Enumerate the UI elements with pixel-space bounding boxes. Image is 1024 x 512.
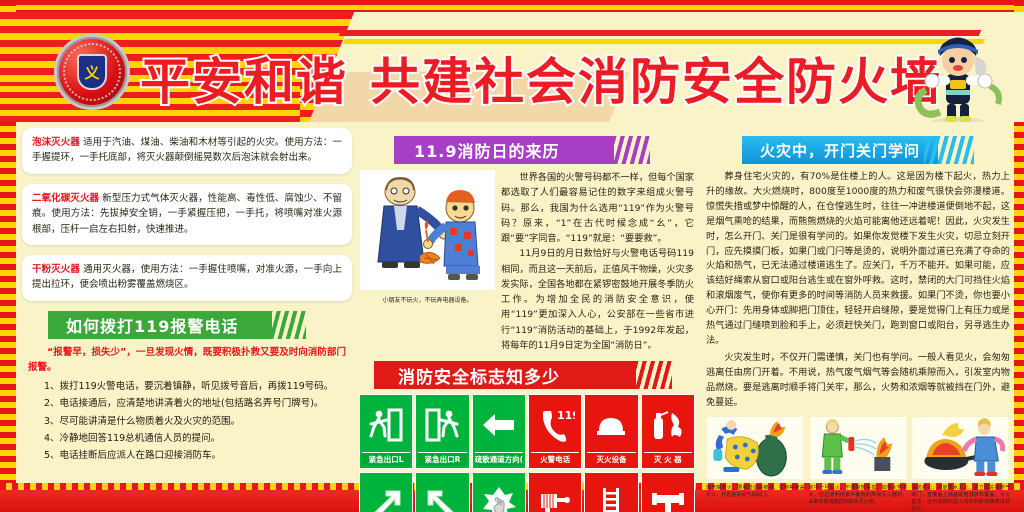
title-main: 平安和谐: [140, 53, 348, 111]
illustration-caption: 家中一旦起火，不要惊慌失措，如果火势不大，应迅速利用家中备有的简易灭火器材，采取…: [809, 485, 908, 507]
fire-equipment-icon: [587, 397, 635, 452]
sign-fire-extinguisher[interactable]: 灭 火 器: [642, 395, 694, 468]
door-knowledge-text: 葬身住宅火灾的，有70%是住楼上的人。这是因为楼下起火，热力上升的缘故。大火燃烧…: [706, 170, 1010, 411]
ribbon-tail: [256, 311, 306, 339]
sign-fire-ladder[interactable]: 消 防 梯: [585, 473, 637, 512]
exit-left-icon: [362, 397, 410, 452]
fire-safety-poster: 义 平安和谐共建社会消防安全防火墙: [0, 0, 1024, 512]
section-header-label: 11.9消防日的来历: [360, 138, 559, 162]
fire-department-emblem: 义: [54, 34, 130, 110]
alarm-intro-text: “报警早，损失少”，一旦发现火情，既要积极扑救又要及时向消防部门报警。: [22, 345, 352, 375]
sign-fire-alarm-phone[interactable]: 119 火警电话: [529, 395, 581, 468]
sign-label: 火警电话: [531, 452, 579, 466]
extinguisher-card-foam: 泡沫灭火器 适用于汽油、煤油、柴油和木材等引起的火灾。使用方法：一手握提环，一手…: [22, 128, 352, 174]
section-header-door-knowledge: 火灾中，开门关门学问: [706, 136, 1010, 164]
title-sub: 共建社会消防安全防火墙: [370, 53, 942, 111]
list-item: 4、冷静地回答119总机通信人员的提问。: [44, 430, 352, 447]
illustration-cell: 家中一旦起火，不要惊慌失措，如果火势不大，应迅速利用家中备有的简易灭火器材，采取…: [809, 417, 908, 512]
card-keyword: 二氧化碳灭火器: [32, 193, 99, 204]
exit-right-icon: [418, 397, 466, 452]
no-playing-with-fire-illustration: 小朋友不玩火，不玩弄电器设备。: [360, 170, 495, 353]
extinguisher-card-co2: 二氧化碳灭火器 新型压力式气体灭火器，性能高、毒性低、腐蚀少、不留痕。使用方法：…: [22, 184, 352, 245]
ribbon-tail: [924, 136, 974, 164]
sign-label: 紧急出口R: [418, 452, 466, 466]
sign-fire-fighting-equipment[interactable]: 灭火设备: [585, 395, 637, 468]
header-red-slash: [339, 30, 982, 36]
section-header-call-119: 如何拨打119报警电话: [22, 311, 352, 339]
arrow-left-icon: [475, 397, 523, 452]
list-item: 5、电话挂断后应派人在路口迎接消防车。: [44, 447, 352, 464]
old-man-and-child-icon: [360, 170, 495, 290]
sign-fire-hose[interactable]: 消防水带: [529, 473, 581, 512]
break-glass-icon: [475, 475, 523, 512]
fire-hose-icon: [531, 475, 579, 512]
section-header-safety-signs: 消防安全标志知多少: [360, 361, 694, 389]
fire-day-content: 小朋友不玩火，不玩弄电器设备。 世界各国的火警号码都不一样，但每个国家都选取了人…: [360, 170, 694, 353]
illustration-caption: 煤气罐着火，要用浸湿的被褥、衣物等掩盖灭火，并迅速关闭气源阀门。: [706, 485, 805, 500]
svg-text:119: 119: [557, 409, 575, 422]
cartoon-caption: 小朋友不玩火，不玩弄电器设备。: [360, 295, 495, 304]
paragraph: 11月9日的月日数恰好与火警电话号码119相同，而且这一天前后，正值风干物燥，火…: [501, 246, 694, 353]
pump-connector-icon: [644, 475, 692, 512]
list-item: 1、拨打119火警电话，要沉着镇静，听见拨号音后，再拨119号码。: [44, 378, 352, 395]
illustration-cell: 煤气罐着火，要用浸湿的被褥、衣物等掩盖灭火，并迅速关闭气源阀门。: [706, 417, 805, 512]
sign-evacuation-direction-left[interactable]: 疏散通道方向(左): [473, 395, 525, 468]
fire-extinguisher-icon: [644, 397, 692, 452]
middle-column: 11.9消防日的来历: [360, 128, 694, 512]
card-text: 二氧化碳灭火器 新型压力式气体灭火器，性能高、毒性低、腐蚀少、不留痕。使用方法：…: [32, 191, 342, 237]
sign-pump-connector[interactable]: 消防水泵接合器: [642, 473, 694, 512]
section-header-fire-day-origin: 11.9消防日的来历: [360, 136, 694, 164]
section-header-label: 消防安全标志知多少: [360, 363, 560, 388]
extinguisher-use-illustration-icon: [809, 417, 908, 479]
fire-ladder-icon: [587, 475, 635, 512]
poster-header: 义 平安和谐共建社会消防安全防火墙: [0, 12, 1024, 122]
sign-label: 疏散通道方向(左): [475, 452, 523, 466]
card-keyword: 泡沫灭火器: [32, 137, 80, 148]
fire-day-text: 世界各国的火警号码都不一样，但每个国家都选取了人们最容易记住的数字来组成火警号码…: [501, 170, 694, 353]
sign-emergency-exit-right[interactable]: 紧急出口R: [416, 395, 468, 468]
ribbon-tail: [622, 361, 672, 389]
illustration-cell: 油锅着火，不能泼水灭火。应立即关掉燃气阀门，直接盖上锅盖或用湿抹布覆盖，令火窒息…: [911, 417, 1010, 512]
ribbon-tail: [600, 136, 650, 164]
list-item: 3、尽可能讲清是什么物质着火及火灾的范围。: [44, 413, 352, 430]
card-text: 干粉灭火器 通用灭火器，使用方法：一手握住喷嘴，对准火源，一手向上提出拉环，便会…: [32, 262, 342, 293]
sign-push-to-open[interactable]: 推 开: [360, 473, 412, 512]
illustration-caption: 油锅着火，不能泼水灭火。应立即关掉燃气阀门，直接盖上锅盖或用湿抹布覆盖，令火窒息…: [911, 485, 1010, 512]
extinguisher-card-drypowder: 干粉灭火器 通用灭火器，使用方法：一手握住喷嘴，对准火源，一手向上提出拉环，便会…: [22, 255, 352, 301]
sign-pull-to-open[interactable]: 拉 开: [416, 473, 468, 512]
fire-phone-119-icon: 119: [531, 397, 579, 452]
sign-label: 灭火设备: [587, 452, 635, 466]
page-title: 平安和谐共建社会消防安全防火墙: [140, 42, 900, 114]
sign-break-glass[interactable]: 击碎板面: [473, 473, 525, 512]
illustrations-row: 煤气罐着火，要用浸湿的被褥、衣物等掩盖灭火，并迅速关闭气源阀门。: [706, 417, 1010, 512]
push-arrow-icon: [362, 475, 410, 512]
firefighter-mascot-icon: [906, 26, 1010, 122]
section-header-label: 火灾中，开门关门学问: [706, 140, 920, 161]
wreath-ring-icon: [63, 43, 121, 101]
paragraph: 火灾发生时，不仅开门需谨慎，关门也有学问。一般人看见火，会匆匆逃离任由房门开着。…: [706, 351, 1010, 411]
alarm-steps-list: 1、拨打119火警电话，要沉着镇静，听见拨号音后，再拨119号码。 2、电话接通…: [22, 378, 352, 464]
gas-cylinder-fire-illustration-icon: [706, 417, 805, 479]
left-column: 泡沫灭火器 适用于汽油、煤油、柴油和木材等引起的火灾。使用方法：一手握提环，一手…: [22, 128, 352, 464]
right-column: 火灾中，开门关门学问 葬身住宅火灾的，有70%是住楼上的人。这是因为楼下起火，热…: [706, 128, 1010, 512]
sign-emergency-exit-left[interactable]: 紧急出口L: [360, 395, 412, 468]
oil-pan-fire-illustration-icon: [911, 417, 1010, 479]
sign-label: 紧急出口L: [362, 452, 410, 466]
card-text: 泡沫灭火器 适用于汽油、煤油、柴油和木材等引起的火灾。使用方法：一手握提环，一手…: [32, 135, 342, 166]
list-item: 2、电话接通后，应清楚地讲清着火的地址(包括路名弄号门牌号)。: [44, 395, 352, 412]
paragraph: 葬身住宅火灾的，有70%是住楼上的人。这是因为楼下起火，热力上升的缘故。大火燃烧…: [706, 170, 1010, 349]
paragraph: 世界各国的火警号码都不一样，但每个国家都选取了人们最容易记住的数字来组成火警号码…: [501, 170, 694, 246]
section-header-label: 如何拨打119报警电话: [22, 313, 238, 337]
card-keyword: 干粉灭火器: [32, 264, 80, 275]
pull-arrow-icon: [418, 475, 466, 512]
safety-signs-grid: 紧急出口L 紧急出口R 疏散通道方向(左): [360, 395, 694, 512]
sign-label: 灭 火 器: [644, 452, 692, 466]
